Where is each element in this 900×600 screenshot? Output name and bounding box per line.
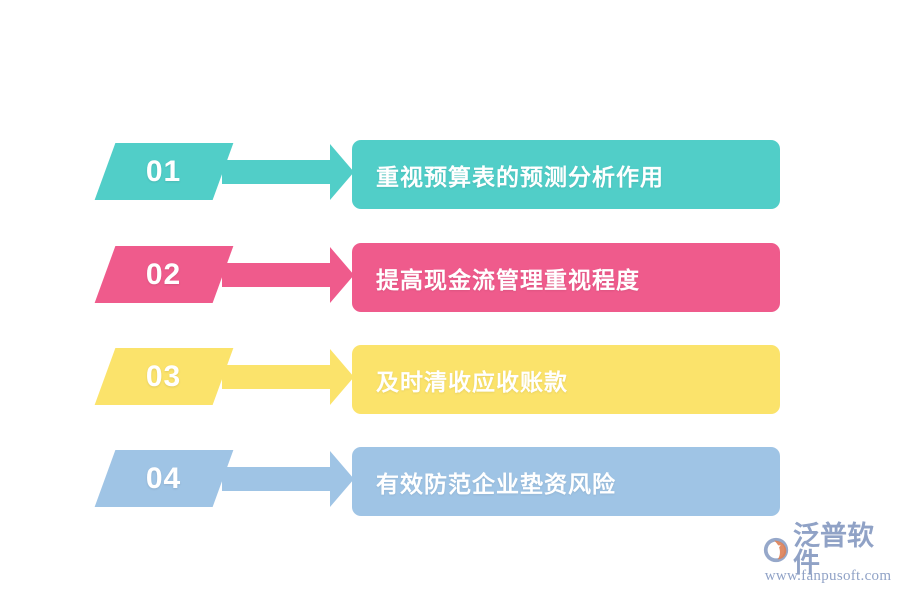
step-number-badge: 03: [95, 348, 234, 405]
step-text-label: 重视预算表的预测分析作用: [376, 158, 664, 192]
logo-url: www.fanpusoft.com: [762, 568, 894, 585]
diagram-row: 02 提高现金流管理重视程度: [0, 243, 900, 319]
step-number-label: 02: [146, 260, 181, 290]
step-text-label: 及时清收应收账款: [376, 363, 568, 397]
fanpu-logo-icon: [762, 535, 790, 565]
step-number-badge: 04: [95, 450, 234, 507]
arrow-icon: [222, 243, 354, 307]
logo-row: 泛普软件: [762, 533, 894, 567]
step-text-bar: 提高现金流管理重视程度: [352, 243, 780, 312]
step-number-label: 04: [146, 464, 181, 494]
watermark-logo: 泛普软件 www.fanpusoft.com: [762, 533, 894, 591]
step-number-badge: 02: [95, 246, 234, 303]
arrow-icon: [222, 140, 354, 204]
step-text-bar: 及时清收应收账款: [352, 345, 780, 414]
diagram-row: 03 及时清收应收账款: [0, 345, 900, 421]
step-number-badge: 01: [95, 143, 234, 200]
diagram-row: 01 重视预算表的预测分析作用: [0, 140, 900, 216]
step-diagram: 01 重视预算表的预测分析作用 02 提高现金流管理重视程度 03: [0, 0, 900, 600]
arrow-icon: [222, 447, 354, 511]
step-number-label: 03: [146, 362, 181, 392]
step-text-bar: 重视预算表的预测分析作用: [352, 140, 780, 209]
diagram-row: 04 有效防范企业垫资风险: [0, 447, 900, 523]
step-text-label: 有效防范企业垫资风险: [376, 465, 616, 499]
step-text-bar: 有效防范企业垫资风险: [352, 447, 780, 516]
step-text-label: 提高现金流管理重视程度: [376, 261, 640, 295]
arrow-icon: [222, 345, 354, 409]
step-number-label: 01: [146, 157, 181, 187]
